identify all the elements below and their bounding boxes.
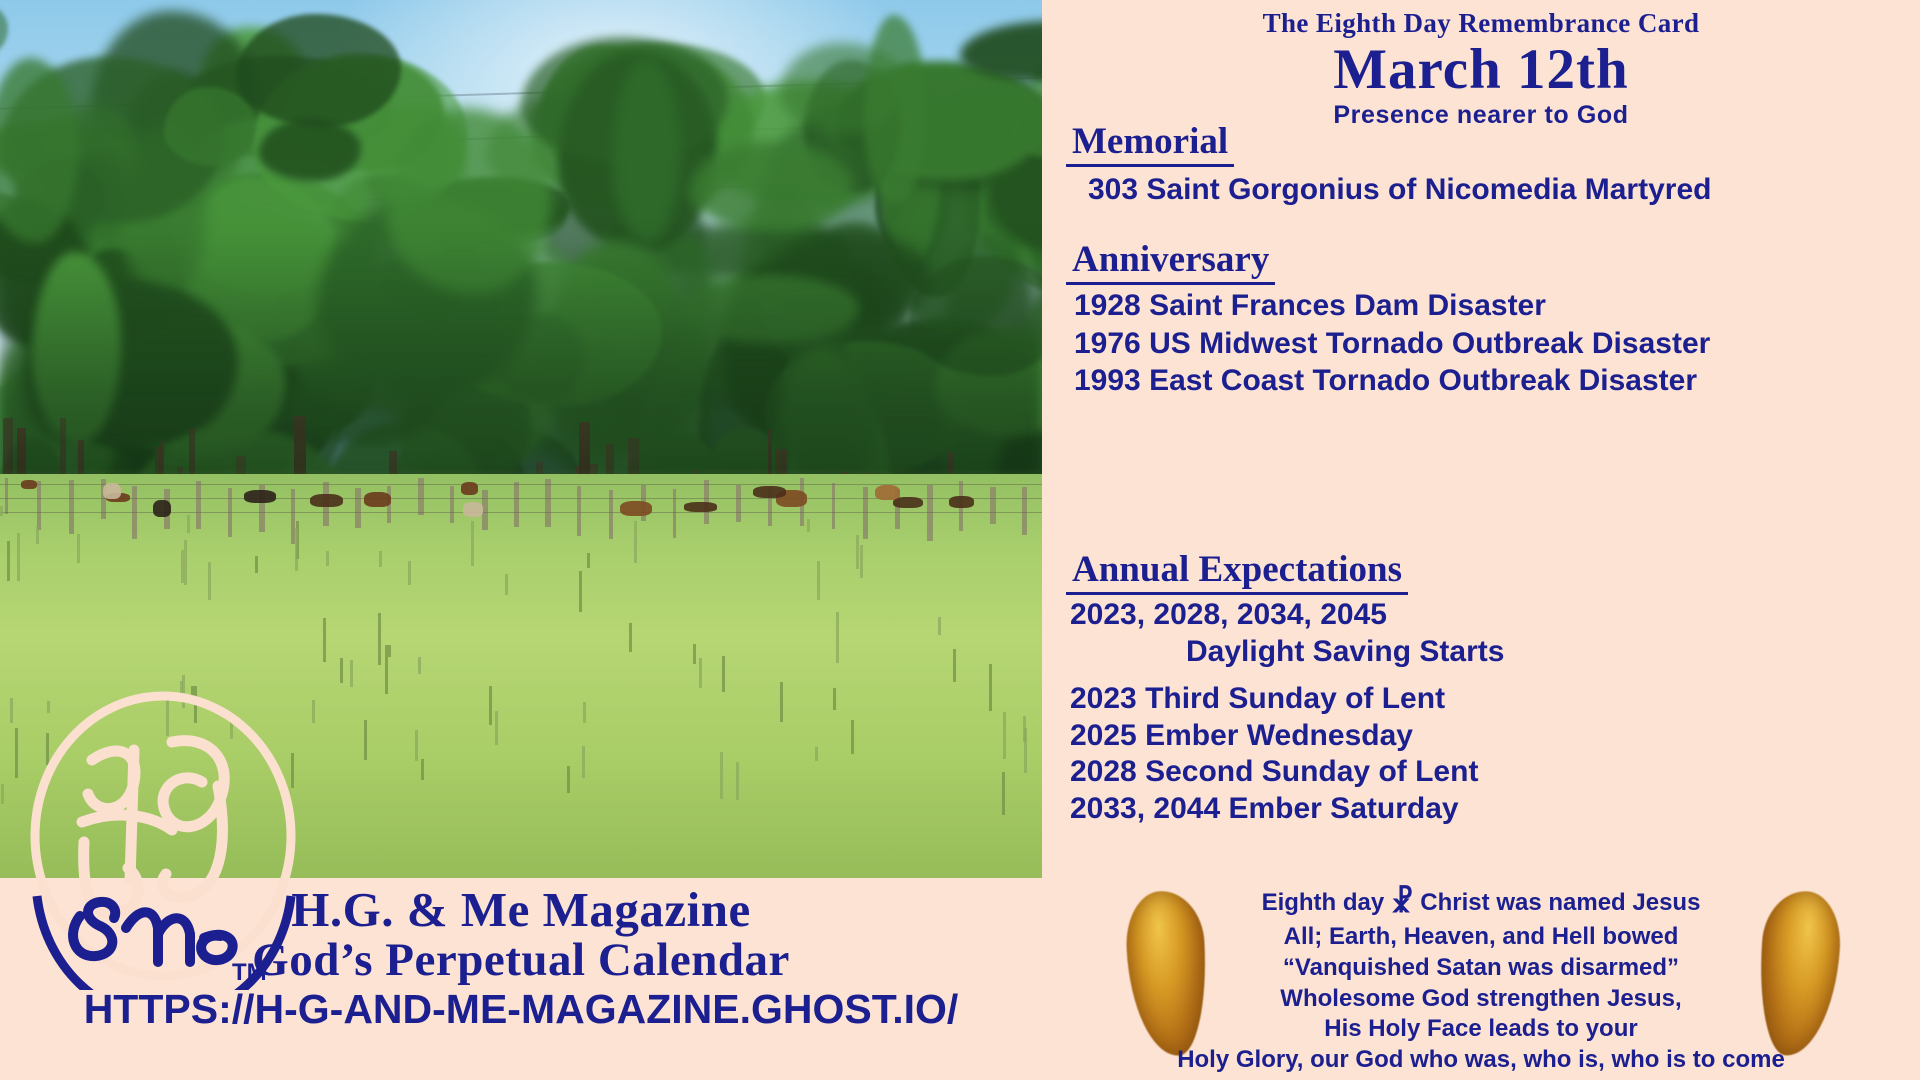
remembrance-card: TM H.G. & Me Magazine God’s Perpetual Ca… [0,0,1920,1080]
weed-stalk [582,746,585,778]
grazing-cow [949,496,973,508]
card-header: The Eighth Day Remembrance Card March 12… [1042,8,1920,130]
grazing-cow [620,501,652,516]
grazing-cow [463,502,482,517]
grazing-cow [21,480,37,489]
weed-stalk [720,752,723,798]
expectation-item: 2023 Third Sunday of Lent [1070,682,1504,716]
fence-post [736,485,740,522]
weed-stalk [340,658,343,683]
weed-stalk [989,664,992,711]
weed-stalk [408,561,411,585]
card-eyebrow: The Eighth Day Remembrance Card [1042,8,1920,39]
expectation-item: 2023, 2028, 2034, 2045 [1070,598,1504,632]
weed-stalk [388,645,391,656]
anniversary-item: 1993 East Coast Tornado Outbreak Disaste… [1074,364,1710,398]
weed-stalk [505,574,508,596]
weed-stalk [208,562,211,600]
weed-stalk [780,682,783,721]
magazine-url[interactable]: HTTPS://H-G-AND-ME-MAGAZINE.GHOST.IO/ [84,988,959,1031]
foliage-cluster [164,87,256,166]
expectation-item: Daylight Saving Starts [1186,635,1504,669]
fence-post [69,480,74,534]
weed-stalk [938,617,941,635]
hg-and-me-logo[interactable]: TM [22,690,312,990]
fence-post [450,486,454,523]
weed-stalk [1,784,4,804]
weed-stalk [181,550,184,583]
expectation-item: 2028 Second Sunday of Lent [1070,755,1504,789]
grazing-cow [875,485,900,500]
weed-stalk [817,561,820,600]
weed-stalk [17,533,20,581]
expectation-item: 2025 Ember Wednesday [1070,719,1504,753]
weed-stalk [378,613,381,665]
weed-stalk [1003,712,1006,759]
section-annual-expectations: Annual Expectations 2023, 2028, 2034, 20… [1066,548,1504,826]
weed-stalk [583,702,586,723]
weed-stalk [326,551,329,565]
verse-line: “Vanquished Satan was disarmed” [1042,953,1920,984]
weed-stalk [15,728,18,778]
foliage-cluster [613,59,679,242]
expectation-item: 2033, 2044 Ember Saturday [1070,792,1504,826]
verse-line-suffix: Christ was named Jesus [1414,889,1701,916]
fence-post [37,481,41,530]
weed-stalk [495,711,498,745]
grazing-cow [310,494,343,508]
section-heading-annual-expectations: Annual Expectations [1066,548,1408,595]
weed-stalk [1002,772,1005,815]
grazing-cow [684,502,717,511]
weed-stalk [323,618,326,663]
weed-stalk [471,521,474,566]
weed-stalk [807,519,810,533]
weed-stalk [815,747,818,761]
weed-stalk [836,612,839,664]
anniversary-item: 1976 US Midwest Tornado Outbreak Disaste… [1074,327,1710,361]
weed-stalk [0,506,3,516]
weed-stalk [489,686,492,725]
grazing-cow [893,497,923,509]
weed-stalk [77,534,80,562]
weed-stalk [856,535,859,570]
foliage-cluster [236,14,401,128]
fence-post [863,487,868,539]
verse-line: His Holy Face leads to your [1042,1014,1920,1045]
verse-line: All; Earth, Heaven, and Hell bowed [1042,922,1920,953]
weed-stalk [415,730,418,761]
weed-stalk [184,540,187,585]
grazing-cow [753,486,786,498]
grazing-cow [461,482,478,494]
weed-stalk [36,526,39,544]
foliage-cluster [259,119,361,181]
weed-stalk [350,660,353,687]
verse-line-prefix: Eighth day [1262,889,1391,916]
fence-post [514,482,519,527]
fence-post [482,490,488,530]
section-heading-memorial: Memorial [1066,120,1234,167]
weed-stalk [634,521,637,564]
logo-trademark: TM [232,959,267,986]
weed-stalk [851,720,854,754]
weed-stalk [364,720,367,760]
magazine-title: H.G. & Me Magazine [291,884,750,936]
verse-line: Holy Glory, our God who was, who is, who… [1042,1045,1920,1076]
fence-post [990,487,995,524]
magazine-subtitle: God’s Perpetual Calendar [252,936,790,986]
grazing-cow [103,483,122,499]
fence-post [927,485,933,541]
weed-stalk [860,545,863,577]
fence-post [673,489,676,538]
section-memorial: Memorial 303 Saint Gorgonius of Nicomedi… [1066,120,1711,207]
weed-stalk [693,644,696,665]
weed-stalk [312,700,315,722]
weed-stalk [736,762,739,800]
weed-stalk [833,688,836,710]
verse-block: Eighth day ☧ Christ was named Jesus All;… [1042,885,1920,1080]
grazing-cow [364,492,390,507]
foliage-cluster [690,142,853,233]
section-heading-anniversary: Anniversary [1066,238,1275,285]
weed-stalk [579,571,582,611]
weed-stalk [187,515,190,533]
weed-stalk [1023,716,1026,742]
weed-stalk [295,528,298,571]
weed-stalk [379,551,382,567]
verse-line: Eighth day ☧ Christ was named Jesus [1042,885,1920,922]
weed-stalk [953,649,956,682]
weed-stalk [421,759,424,780]
grazing-cow [244,490,276,502]
fence-post [832,483,835,528]
page-title: March 12th [1042,40,1920,99]
section-anniversary: Anniversary 1928 Saint Frances Dam Disas… [1066,238,1710,398]
weed-stalk [629,623,632,653]
weed-stalk [722,656,725,692]
fence-post [196,481,201,529]
weed-stalk [10,698,13,723]
foliage-cluster [864,15,926,204]
memorial-item: 303 Saint Gorgonius of Nicomedia Martyre… [1088,173,1711,207]
weed-stalk [699,658,702,688]
weed-stalk [7,541,10,581]
chi-rho-icon: ☧ [1391,887,1414,919]
weed-stalk [255,556,258,573]
anniversary-item: 1928 Saint Frances Dam Disaster [1074,289,1710,323]
weed-stalk [587,553,590,568]
weed-stalk [567,766,570,793]
fence-post [355,488,361,528]
verse-line: Wholesome God strengthen Jesus, [1042,984,1920,1015]
weed-stalk [418,657,421,674]
grazing-cow [153,500,171,517]
fence-post [545,479,551,527]
